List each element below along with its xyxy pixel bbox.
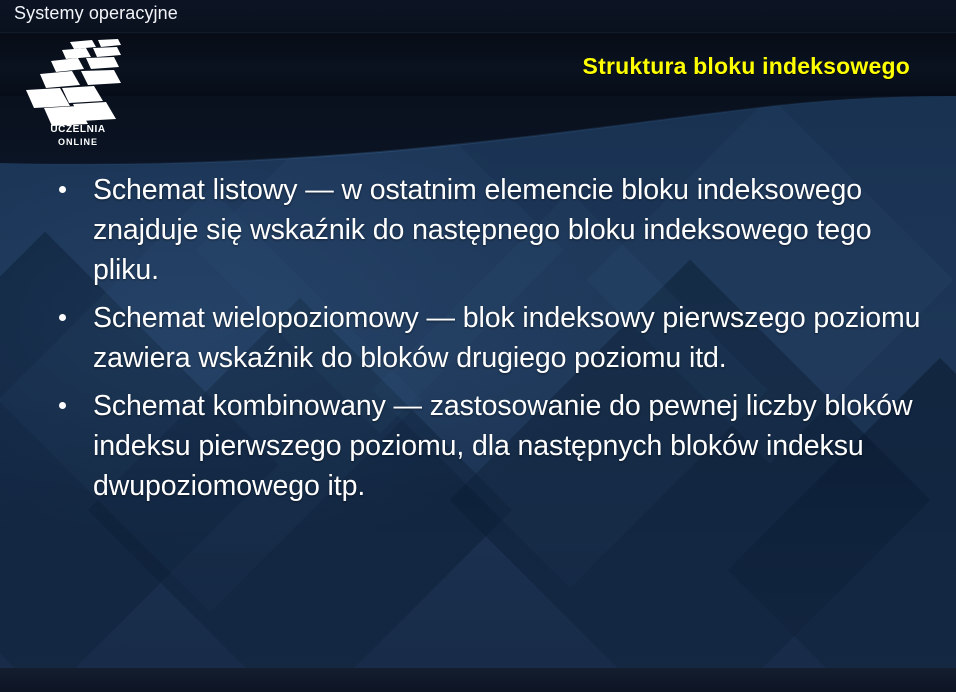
list-item: Schemat kombinowany — zastosowanie do pe… [52,386,932,506]
bullet-dot-icon [59,314,66,321]
course-title: Systemy operacyjne [14,3,178,24]
uczelnia-online-logo: UCZELNIA ONLINE [18,36,138,154]
slide-root: Systemy operacyjne Struktura bloku indek… [0,0,956,692]
list-item: Schemat listowy — w ostatnim elemencie b… [52,170,932,290]
list-item: Schemat wielopoziomowy — blok indeksowy … [52,298,932,378]
page-title: Struktura bloku indeksowego [583,53,910,80]
bullet-list: Schemat listowy — w ostatnim elemencie b… [52,170,932,514]
logo-line-1: UCZELNIA [50,124,105,135]
bullet-text: Schemat listowy — w ostatnim elemencie b… [93,170,932,290]
footer-strip [0,668,956,692]
logo-wordmark: UCZELNIA ONLINE [18,124,138,148]
bullet-dot-icon [59,402,66,409]
bullet-dot-icon [59,186,66,193]
bullet-text: Schemat kombinowany — zastosowanie do pe… [93,386,932,506]
bullet-text: Schemat wielopoziomowy — blok indeksowy … [93,298,932,378]
logo-line-2: ONLINE [18,136,138,148]
